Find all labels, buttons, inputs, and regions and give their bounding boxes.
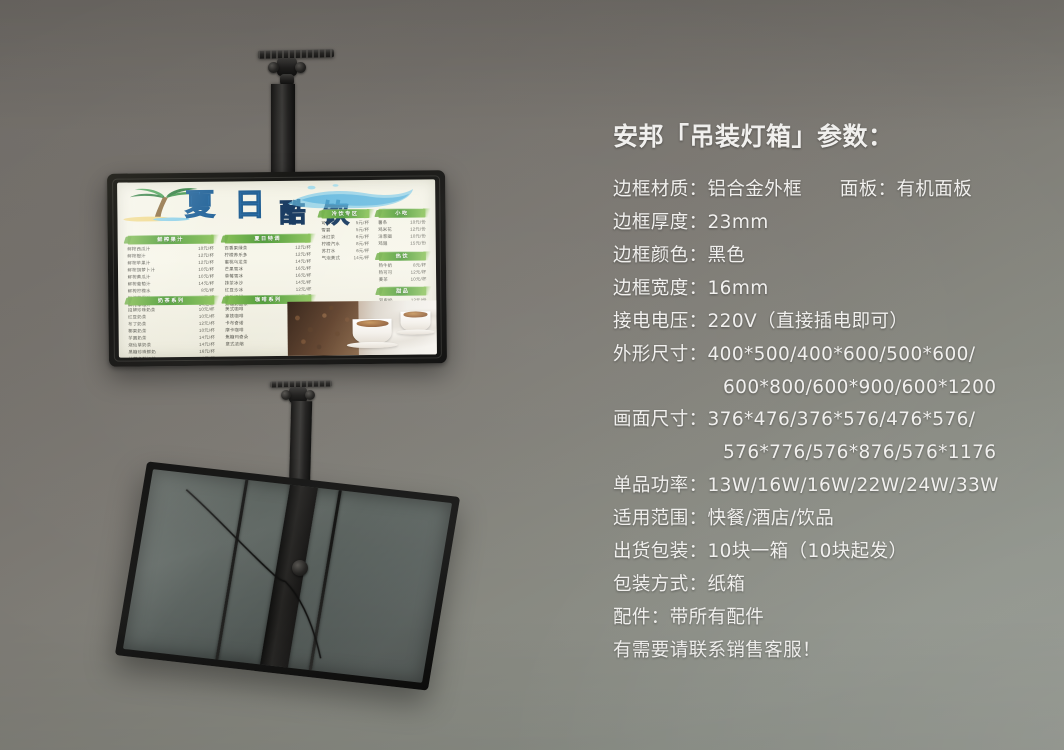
coffee-cup-main [353,319,392,344]
menu-item-row: 鲜榨柠檬水8元/杯 [128,288,215,293]
item-name: 烧仙草奶茶 [128,344,151,349]
item-price: 12元/杯 [295,252,311,257]
product-photo-scene: 夏 日 酷 饮 鲜榨果汁 [0,0,1064,750]
item-price: 8元/杯 [356,242,369,247]
menu-item-row: 招牌珍珠奶茶10元/杯 [128,308,215,313]
item-price: 10元/份 [410,234,426,239]
menu-item-row: 姜茶10元/杯 [379,277,427,282]
item-name: 热牛奶 [379,263,393,268]
item-price: 10元/杯 [198,267,214,272]
menu-item-row: 草莓雪冰16元/杯 [225,273,312,278]
item-price: 6元/杯 [356,249,369,254]
spec-title: 安邦「吊装灯箱」参数： [613,122,1043,152]
item-name: 鲜榨苹果汁 [127,261,150,266]
menu-item-row: 热可可12元/杯 [379,270,427,275]
item-name: 鸡翅 [378,242,387,247]
item-name: 鲜榨黄瓜汁 [128,275,151,280]
spec-line: 有需要请联系销售客服！ [613,635,1043,668]
menu-item-row: 鲜榨苹果汁12元/杯 [127,260,214,265]
item-name: 姜茶 [379,277,388,282]
item-price: 10元/杯 [199,329,215,334]
spec-line: 包装方式：纸箱 [613,569,1043,602]
section-heading-banner: 鲜榨果汁 [127,234,214,244]
item-name: 红豆奶茶 [128,316,146,321]
menu-item-row: 红豆沙冰12元/杯 [225,287,312,292]
power-cable [123,469,452,683]
menu-item-row: 气泡美式14元/杯 [322,256,370,261]
item-price: 14元/杯 [354,256,370,261]
section-heading-banner: 冷饮专区 [321,209,369,219]
item-name: 百香果绿茶 [224,246,247,251]
item-price: 10元/杯 [198,274,214,279]
section-heading-banner: 小吃 [378,208,426,218]
item-name: 布丁奶茶 [128,323,146,328]
menu-item-row: 布丁奶茶12元/杯 [128,322,215,327]
item-name: 美式咖啡 [225,308,243,313]
item-price: 10元/份 [410,220,426,225]
back-panel-surface [123,469,452,683]
item-price: 14元/杯 [198,281,214,286]
menu-item-row: 柠檬汽水8元/杯 [322,242,370,247]
item-price: 14元/杯 [199,336,215,341]
section-heading-text: 冷饮专区 [321,209,369,219]
item-price: 12元/杯 [295,245,311,250]
item-price: 12元/份 [410,227,426,232]
spec-line: 外形尺寸：400*500/400*600/500*600/ [613,339,1043,372]
menu-section-5: 冷饮专区 可乐5元/杯 雪碧5元/杯 冰红茶6元/杯 柠檬汽水8元/杯 苏打水6… [321,209,369,263]
spec-line: 接电电压：220V（直接插电即可） [613,306,1043,339]
section-item-rows: 招牌珍珠奶茶10元/杯 红豆奶茶10元/杯 布丁奶茶12元/杯 椰果奶茶10元/… [128,308,215,358]
coffee-beans-and-cups-photo [287,300,437,356]
item-name: 热可可 [379,270,393,275]
section-item-rows: 热牛奶8元/杯 热可可12元/杯 姜茶10元/杯 [379,263,427,282]
menu-item-row: 可乐5元/杯 [321,221,369,226]
menu-item-row: 椰果奶茶10元/杯 [128,329,215,334]
item-name: 气泡美式 [322,256,340,261]
menu-item-row: 热牛奶8元/杯 [379,263,427,268]
menu-artwork: 夏 日 酷 饮 鲜榨果汁 [117,179,437,357]
item-price: 14元/杯 [295,259,311,264]
menu-item-row: 鲜榨葡萄汁14元/杯 [128,281,215,286]
item-price: 14元/杯 [296,280,312,285]
spec-line: 边框颜色：黑色 [613,240,1043,273]
menu-item-row: 芒果雪冰16元/杯 [225,266,312,271]
section-heading-text: 小吃 [378,208,426,218]
section-heading-banner: 甜品 [379,287,427,297]
item-price: 16元/杯 [295,266,311,271]
menu-section-7: 热饮 热牛奶8元/杯 热可可12元/杯 姜茶10元/杯 [378,251,426,284]
item-name: 招牌珍珠奶茶 [128,309,156,314]
menu-item-row: 雪碧5元/杯 [321,228,369,233]
item-price: 12元/杯 [198,260,214,265]
spec-line: 边框材质：铝合金外框 面板：有机面板 [613,174,1043,207]
item-name: 卡布奇诺 [225,322,243,327]
spec-line: 适用范围：快餐/酒店/饮品 [613,503,1043,536]
lightbox-front-panel: 夏 日 酷 饮 鲜榨果汁 [107,170,447,367]
item-price: 16元/杯 [296,273,312,278]
spec-line: 576*776/576*876/576*1176 [613,437,1043,470]
item-name: 柠檬汽水 [322,242,340,247]
item-name: 椰果奶茶 [128,330,146,335]
item-name: 苏打水 [322,249,336,254]
lightbox-back-panel [115,461,460,690]
lower-pivot-knob-left [281,390,291,400]
menu-item-row: 抹茶拿铁奶茶16元/杯 [128,357,215,358]
pivot-knob-right [295,62,306,73]
menu-item-row: 苏打水6元/杯 [322,249,370,254]
item-price: 10元/杯 [198,246,214,251]
item-name: 焦糖玛奇朵 [225,336,248,341]
menu-item-row: 鲜榨西瓜汁10元/杯 [127,246,214,251]
menu-item-row: 芋圆奶茶14元/杯 [128,336,215,341]
menu-section-3: 奶茶系列 招牌珍珠奶茶10元/杯 红豆奶茶10元/杯 布丁奶茶12元/杯 椰果奶… [128,296,215,358]
section-heading-text: 甜品 [379,287,427,297]
lower-pivot-knob-right [305,390,315,400]
spec-line: 出货包装：10块一箱（10块起发） [613,536,1043,569]
item-price: 12元/杯 [198,253,214,258]
item-name: 红豆沙冰 [225,288,243,293]
menu-item-row: 冰红茶6元/杯 [321,235,369,240]
menu-item-row: 薯条10元/份 [378,220,426,225]
menu-item-row: 蜜桃乌龙茶14元/杯 [225,259,312,264]
item-name: 洋葱圈 [378,234,392,239]
item-name: 蜜桃乌龙茶 [225,260,248,265]
menu-item-row: 红豆奶茶10元/杯 [128,315,215,320]
mount-plate-slots [258,49,334,59]
section-heading-banner: 夏日特调 [224,233,311,243]
spec-line: 单品功率：13W/16W/16W/22W/24W/33W [613,470,1043,503]
section-item-rows: 可乐5元/杯 雪碧5元/杯 冰红茶6元/杯 柠檬汽水8元/杯 苏打水6元/杯 气… [321,221,369,261]
item-price: 5元/杯 [356,228,369,233]
section-heading-text: 鲜榨果汁 [127,234,214,244]
item-price: 12元/杯 [199,322,215,327]
item-price: 15元/份 [410,241,426,246]
item-name: 鸡米花 [378,227,392,232]
section-heading-banner: 奶茶系列 [128,296,215,306]
item-name: 鲜榨葡萄汁 [128,282,151,287]
menu-item-row: 鸡翅15元/份 [378,241,426,246]
item-price: 6元/杯 [356,235,369,240]
item-name: 摩卡咖啡 [225,329,243,334]
item-price: 10元/杯 [411,277,427,282]
menu-title-char-2: 日 [234,190,265,221]
menu-item-row: 黑糖珍珠鲜奶16元/杯 [128,350,215,355]
spec-line: 配件：带所有配件 [613,602,1043,635]
item-name: 芋圆奶茶 [128,337,146,342]
item-price: 10元/杯 [199,308,215,313]
item-name: 雪碧 [321,228,330,233]
item-name: 黑糖珍珠鲜奶 [128,351,156,356]
section-item-rows: 薯条10元/份 鸡米花12元/份 洋葱圈10元/份 鸡翅15元/份 [378,220,426,246]
item-name: 拿铁咖啡 [225,315,243,320]
item-price: 8元/杯 [413,263,426,268]
coffee-saucer-back [396,329,435,335]
menu-item-row: 抹茶冰沙14元/杯 [225,280,312,285]
item-name: 意式浓缩 [225,343,243,348]
spec-text-block: 安邦「吊装灯箱」参数： 边框材质：铝合金外框 面板：有机面板 边框厚度：23mm… [613,122,1043,668]
spec-line: 画面尺寸：376*476/376*576/476*576/ [613,404,1043,437]
item-price: 14元/杯 [199,343,215,348]
item-name: 草莓雪冰 [225,274,243,279]
menu-item-row: 鲜榨橙汁12元/杯 [127,253,214,258]
spec-line: 600*800/600*900/600*1200 [613,372,1043,405]
menu-section-6: 小吃 薯条10元/份 鸡米花12元/份 洋葱圈10元/份 鸡翅15元/份 [378,208,426,248]
item-name: 芒果雪冰 [225,267,243,272]
pivot-knob-left [268,62,279,73]
item-price: 16元/杯 [199,357,215,358]
menu-item-row: 百香果绿茶12元/杯 [224,245,311,250]
section-heading-banner: 热饮 [378,251,426,261]
item-price: 12元/杯 [411,270,427,275]
section-heading-text: 热饮 [378,251,426,261]
item-name: 鲜榨胡萝卜汁 [128,268,156,273]
menu-item-row: 鲜榨黄瓜汁10元/杯 [128,274,215,279]
item-name: 鲜榨西瓜汁 [127,247,150,252]
item-name: 鲜榨橙汁 [127,254,145,259]
ceiling-mount-plate [258,49,334,59]
menu-item-row: 洋葱圈10元/份 [378,234,426,239]
spec-line: 边框厚度：23mm [613,207,1043,240]
section-heading-text: 夏日特调 [224,233,311,243]
section-heading-text: 奶茶系列 [128,296,215,306]
item-name: 柠檬养乐多 [225,253,248,258]
item-price: 8元/杯 [201,288,214,293]
item-name: 薯条 [378,221,387,226]
item-price: 16元/杯 [199,350,215,355]
item-name: 冰红茶 [321,235,335,240]
menu-item-row: 鲜榨胡萝卜汁10元/杯 [128,267,215,272]
coffee-beans [287,301,359,356]
spec-line: 边框宽度：16mm [613,273,1043,306]
menu-item-row: 鸡米花12元/份 [378,227,426,232]
menu-item-row: 柠檬养乐多12元/杯 [225,252,312,257]
item-name: 鲜榨柠檬水 [128,289,151,294]
item-price: 10元/杯 [199,315,215,320]
menu-item-row: 烧仙草奶茶14元/杯 [128,343,215,348]
item-name: 可乐 [321,221,330,226]
menu-title-char-1: 夏 [185,191,215,221]
item-name: 抹茶冰沙 [225,281,243,286]
item-price: 5元/杯 [356,221,369,226]
item-price: 12元/杯 [296,287,312,292]
lower-panel-pivot-knob [292,560,308,576]
